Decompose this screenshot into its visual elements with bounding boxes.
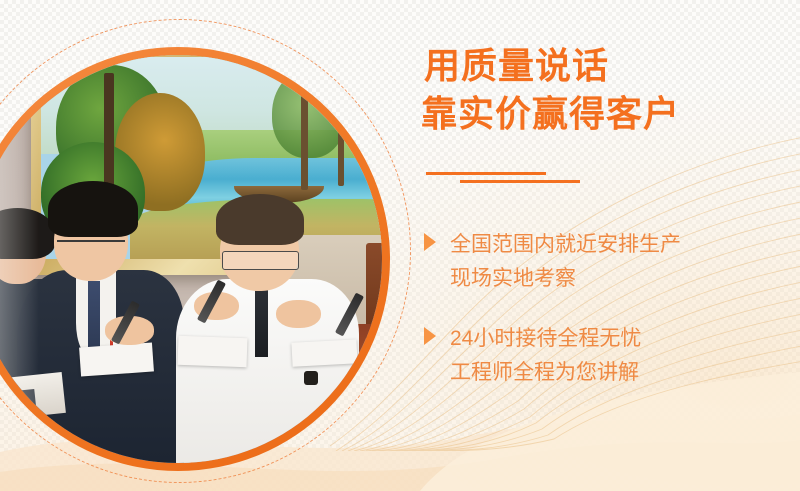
bullet-2-line-2: 工程师全程为您讲解: [450, 356, 800, 390]
feature-bullet-list: 全国范围内就近安排生产 现场实地考察 24小时接待全程无忧 工程师全程为您讲解: [424, 228, 800, 416]
headline-line-1: 用质量说话: [424, 42, 800, 90]
document-paper: [79, 342, 154, 376]
glasses-icon: [57, 240, 125, 257]
chevron-right-icon: [424, 327, 436, 345]
list-item: 24小时接待全程无忧 工程师全程为您讲解: [424, 322, 800, 390]
divider-rule-bottom: [460, 180, 580, 183]
chevron-right-icon: [424, 233, 436, 251]
headline-divider: [426, 172, 586, 186]
photo-circle: [0, 47, 390, 471]
content-panel: 用质量说话 靠实价赢得客户 全国范围内就近安排生产 现场实地考察 24小时接待全…: [424, 0, 800, 491]
bullet-1-line-2: 现场实地考察: [450, 262, 800, 296]
painting-tree: [272, 69, 346, 158]
business-signing-photo: [0, 55, 382, 463]
bullet-1-line-1: 全国范围内就近安排生产: [450, 228, 800, 262]
person-left-businessman: [23, 181, 178, 463]
list-item: 全国范围内就近安排生产 现场实地考察: [424, 228, 800, 296]
headline-line-2: 靠实价赢得客户: [421, 90, 800, 138]
headline-block: 用质量说话 靠实价赢得客户: [424, 42, 800, 137]
person-right-businessman: [186, 194, 349, 463]
promo-banner: 用质量说话 靠实价赢得客户 全国范围内就近安排生产 现场实地考察 24小时接待全…: [0, 0, 800, 491]
painting-tree-trunk: [301, 77, 308, 190]
document-paper: [292, 339, 358, 367]
photo-edge-fade: [0, 55, 39, 463]
hand: [276, 300, 321, 329]
wristwatch: [304, 371, 319, 385]
document-paper: [178, 335, 248, 366]
bullet-text-group: 全国范围内就近安排生产 现场实地考察: [450, 228, 800, 296]
bullet-2-line-1: 24小时接待全程无忧: [450, 322, 800, 356]
bullet-text-group: 24小时接待全程无忧 工程师全程为您讲解: [450, 322, 800, 390]
glasses-icon: [222, 251, 299, 270]
divider-rule-top: [426, 172, 546, 175]
painting-tree-trunk: [338, 85, 344, 186]
